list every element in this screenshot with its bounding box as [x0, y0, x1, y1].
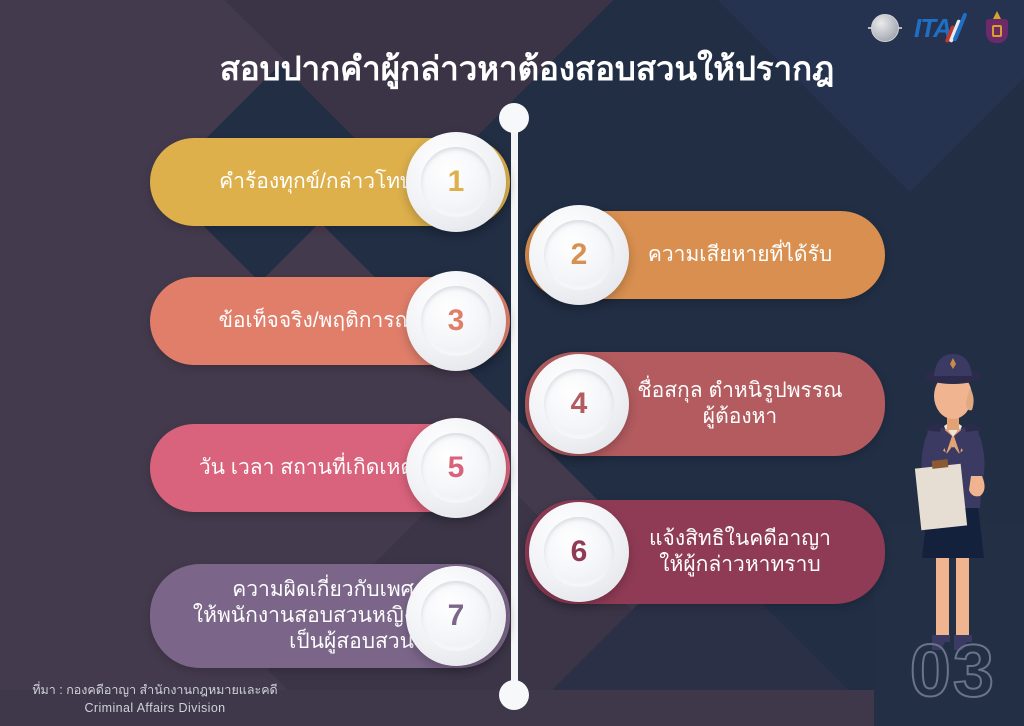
step-badge-3: 3 [406, 271, 506, 371]
list-item-label: วัน เวลา สถานที่เกิดเหตุ [176, 455, 414, 481]
list-item-label: แจ้งสิทธิในคดีอาญา ให้ผู้กล่าวหาทราบ [621, 526, 859, 579]
step-number: 1 [448, 165, 465, 199]
step-badge-inner: 2 [544, 220, 614, 290]
list-item-label: ข้อเท็จจริง/พฤติการณ์ [176, 308, 414, 334]
timeline-knob-top [499, 103, 529, 133]
emblem-inner [992, 25, 1002, 37]
step-number: 2 [571, 238, 588, 272]
page-title: สอบปากคำผู้กล่าวหาต้องสอบสวนให้ปรากฎ [0, 42, 1024, 95]
step-badge-1: 1 [406, 132, 506, 232]
list-item-label: คำร้องทุกข์/กล่าวโทษ [176, 169, 414, 195]
royal-thai-police-emblem-icon [984, 11, 1010, 45]
step-number: 3 [448, 304, 465, 338]
page-number: 03 [910, 634, 996, 708]
step-badge-inner: 5 [421, 433, 491, 503]
list-item-1[interactable]: คำร้องทุกข์/กล่าวโทษ 1 [150, 138, 510, 226]
source-line-english: Criminal Affairs Division [10, 699, 300, 718]
step-badge-inner: 7 [421, 581, 491, 651]
police-seal-icon [868, 11, 902, 45]
ita-swoosh-icon [946, 13, 972, 43]
source-line-thai: ที่มา : กองคดีอาญา สำนักงานกฎหมายและคดี [10, 681, 300, 700]
step-badge-4: 4 [529, 354, 629, 454]
list-item-7[interactable]: ความผิดเกี่ยวกับเพศ ให้พนักงานสอบสวนหญิง… [150, 564, 510, 668]
step-number: 4 [571, 387, 588, 421]
source-footer: ที่มา : กองคดีอาญา สำนักงานกฎหมายและคดี … [10, 681, 300, 719]
list-item-2[interactable]: 2 ความเสียหายที่ได้รับ [525, 211, 885, 299]
list-item-4[interactable]: 4 ชื่อสกุล ตำหนิรูปพรรณ ผู้ต้องหา [525, 352, 885, 456]
ita-logo: ITA [914, 13, 972, 43]
seal-ring [871, 14, 899, 42]
step-badge-5: 5 [406, 418, 506, 518]
step-badge-6: 6 [529, 502, 629, 602]
list-item-5[interactable]: วัน เวลา สถานที่เกิดเหตุ 5 [150, 424, 510, 512]
step-badge-2: 2 [529, 205, 629, 305]
step-badge-inner: 4 [544, 369, 614, 439]
female-police-officer-illustration [888, 338, 1018, 658]
list-item-label: ความผิดเกี่ยวกับเพศ ให้พนักงานสอบสวนหญิง… [176, 577, 414, 656]
slide-canvas: ITA สอบปากคำผู้กล่าวหาต้องสอบสวนให้ปรากฎ… [0, 0, 1024, 726]
timeline-knob-bottom [499, 680, 529, 710]
step-number: 6 [571, 535, 588, 569]
timeline-track [511, 112, 518, 692]
step-badge-inner: 6 [544, 517, 614, 587]
step-badge-inner: 3 [421, 286, 491, 356]
step-badge-inner: 1 [421, 147, 491, 217]
list-item-3[interactable]: ข้อเท็จจริง/พฤติการณ์ 3 [150, 277, 510, 365]
list-item-label: ชื่อสกุล ตำหนิรูปพรรณ ผู้ต้องหา [621, 378, 859, 431]
step-number: 5 [448, 451, 465, 485]
list-item-6[interactable]: 6 แจ้งสิทธิในคดีอาญา ให้ผู้กล่าวหาทราบ [525, 500, 885, 604]
step-number: 7 [448, 599, 465, 633]
step-badge-7: 7 [406, 566, 506, 666]
list-item-label: ความเสียหายที่ได้รับ [621, 242, 859, 268]
